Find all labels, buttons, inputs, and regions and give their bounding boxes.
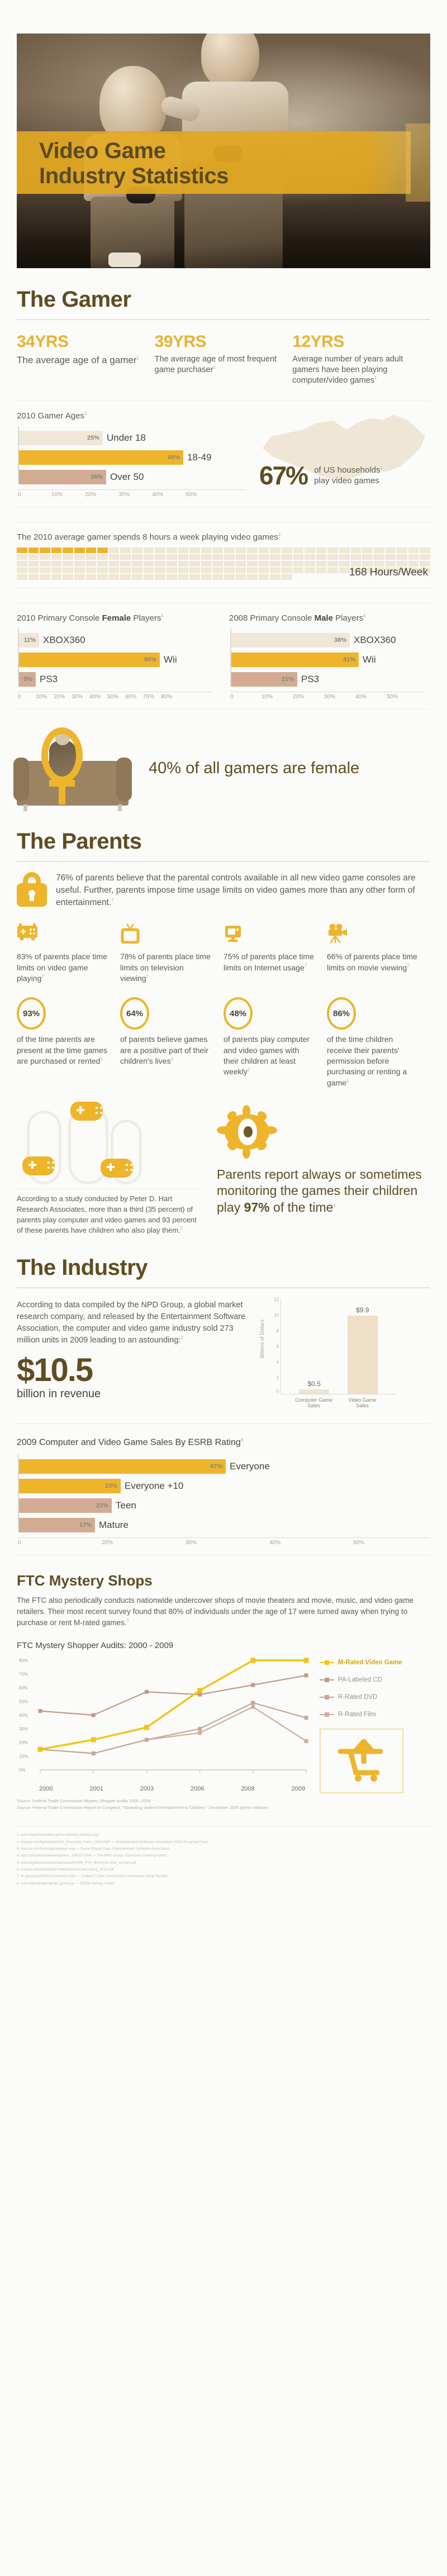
households-caption: of US households1 play video games	[314, 465, 383, 486]
hour-cell	[109, 554, 120, 560]
legend-item: R-Rated Film	[320, 1711, 426, 1718]
hour-cell	[144, 554, 154, 560]
hour-cell	[17, 554, 27, 560]
section-heading-ftc: FTC Mystery Shops	[17, 1572, 430, 1589]
hour-cell	[420, 561, 430, 566]
bar-value: 38%	[334, 637, 346, 644]
hour-cell	[120, 554, 131, 560]
bar-value: 21%	[282, 676, 294, 683]
stat-caption: Average number of years adult gamers hav…	[292, 354, 417, 386]
computer-monitor-icon	[223, 923, 315, 946]
hour-cell	[420, 554, 430, 560]
hour-cell	[74, 554, 85, 560]
legend-label: M-Rated Video Game	[338, 1659, 402, 1666]
time-limit-card: 78% of parents place time limits on tele…	[120, 923, 223, 984]
divider	[17, 319, 430, 320]
monitoring-block: Parents report always or sometimes monit…	[217, 1105, 430, 1236]
stat-card: 34YRS The average age of a gamer1	[17, 332, 155, 386]
hour-cell	[236, 547, 246, 553]
ftc-plot-svg: 80%70%60%50%40%30%20%10%0%	[17, 1656, 313, 1784]
hour-cell	[351, 547, 362, 553]
x-axis: 0 10% 20% 30% 40% 50% 60% 70% 80%	[18, 692, 212, 700]
hour-cell	[316, 554, 327, 560]
hour-cell	[316, 561, 327, 566]
hour-cell	[132, 561, 142, 566]
legend-item: PA-Labeled CD	[320, 1677, 426, 1683]
legend-swatch	[320, 1662, 334, 1663]
hour-cell	[259, 561, 269, 566]
legend-item: M-Rated Video Game	[320, 1659, 426, 1666]
hour-cell	[224, 554, 235, 560]
hour-cell	[167, 561, 177, 566]
ftc-sources: Source: Federal Trade Commission Mystery…	[17, 1798, 313, 1811]
hero-title-line1: Video Game	[39, 139, 397, 164]
hour-cell	[420, 547, 430, 553]
female-symbol-illustration	[17, 726, 134, 810]
family-illustration	[17, 1105, 201, 1189]
bar-value: 41%	[343, 656, 355, 663]
hour-cell	[327, 547, 338, 553]
bar: 23%	[19, 1479, 121, 1493]
bar: 38%	[231, 633, 350, 647]
ftc-chart-wrap: 80%70%60%50%40%30%20%10%0% 2000200120032…	[17, 1656, 430, 1811]
bar: 80%	[19, 653, 160, 667]
gamer-stat-trio: 34YRS The average age of a gamer1 39YRS …	[17, 332, 430, 386]
section-heading-parents: The Parents	[17, 829, 430, 854]
time-limit-text: 83% of parents place time limits on vide…	[17, 951, 108, 984]
hour-cell	[408, 547, 419, 553]
divider	[17, 861, 430, 862]
chart-title: 2010 Gamer Ages3	[17, 411, 246, 421]
bar-row: 49% 18-49	[19, 450, 246, 465]
shopping-cart-icon	[320, 1729, 403, 1793]
bar-value: 25%	[87, 435, 99, 441]
hour-cell	[51, 561, 62, 566]
time-limit-card: 75% of parents place time limits on Inte…	[223, 923, 327, 984]
hour-cell	[224, 561, 235, 566]
bar-row: 47% Everyone	[19, 1459, 430, 1474]
percent-ring: 86%	[327, 997, 356, 1030]
svg-text:50%: 50%	[19, 1699, 28, 1704]
ftc-line-chart: 80%70%60%50%40%30%20%10%0%	[17, 1656, 307, 1784]
hour-cell	[351, 554, 362, 560]
bar: 21%	[231, 672, 297, 687]
bar-row: 17% Mature	[19, 1518, 430, 1532]
hour-cell	[259, 554, 269, 560]
bar: $9.9	[348, 1316, 378, 1394]
hour-cell	[270, 561, 280, 566]
study-and-monitoring-row: According to a study conducted by Peter …	[17, 1105, 430, 1236]
hart-study-text: According to a study conducted by Peter …	[17, 1189, 201, 1236]
movie-camera-icon	[327, 923, 418, 946]
legend-item: R-Rated DVD	[320, 1694, 426, 1701]
hour-cell	[282, 561, 292, 566]
hour-cell	[362, 547, 373, 553]
hour-cell	[132, 547, 142, 553]
hours-per-week-panel: The 2010 average gamer spends 8 hours a …	[17, 522, 430, 588]
bar-label: Everyone	[230, 1461, 270, 1472]
hour-cell	[397, 554, 407, 560]
bar-label: PS3	[40, 674, 58, 685]
time-limit-text: 75% of parents place time limits on Inte…	[223, 951, 315, 973]
esrb-panel: 2009 Computer and Video Game Sales By ES…	[17, 1423, 430, 1555]
hour-cell	[293, 554, 304, 560]
chart-title: 2010 Primary Console Female Players5	[17, 613, 212, 623]
svg-text:20%: 20%	[19, 1740, 28, 1745]
svg-text:0%: 0%	[19, 1768, 26, 1773]
television-icon	[120, 923, 211, 946]
hour-cell	[144, 561, 154, 566]
sales-column-chart: Billions of Dollars 12 10 8 6 4 2 0 $0.5	[267, 1299, 396, 1410]
hour-cell	[17, 547, 27, 553]
section-heading-gamer: The Gamer	[17, 287, 430, 312]
bar-row: 25% Under 18	[19, 431, 246, 445]
time-limit-card: 66% of parents place time limits on movi…	[327, 923, 430, 984]
hour-cell	[270, 554, 280, 560]
plot-area: 12 10 8 6 4 2 0 $0.5 $9.9	[280, 1299, 396, 1394]
infographic-page: Video Game Industry Statistics The Gamer…	[0, 34, 447, 1887]
percent-ring: 93%	[17, 997, 46, 1030]
bar-label: XBOX360	[43, 635, 85, 646]
bar-row: 80% Wii	[19, 653, 212, 667]
bar-row: 9% PS3	[19, 672, 212, 687]
legend-swatch	[320, 1679, 334, 1680]
female-gamers-text: 40% of all gamers are female	[149, 759, 359, 778]
stat-card: 39YRS The average age of most frequent g…	[155, 332, 293, 386]
hour-cell	[97, 554, 108, 560]
legend-swatch	[320, 1697, 334, 1698]
hour-cell	[305, 561, 315, 566]
hour-cell	[74, 561, 85, 566]
hour-cell	[293, 547, 304, 553]
hour-cell	[109, 561, 120, 566]
hour-cell	[386, 547, 396, 553]
bar-value: 11%	[24, 637, 36, 644]
hour-cell	[201, 554, 212, 560]
hero-title-line2: Industry Statistics	[39, 164, 397, 189]
hour-cell	[339, 554, 350, 560]
hour-cell	[28, 547, 39, 553]
legend-label: R-Rated DVD	[338, 1694, 377, 1701]
hour-cell	[236, 561, 246, 566]
bar-label: Over 50	[110, 472, 144, 483]
stat-card: 12YRS Average number of years adult game…	[292, 332, 430, 386]
hour-cell	[305, 554, 315, 560]
hour-cell	[397, 561, 407, 566]
x-tick-label: 2008	[241, 1785, 254, 1792]
bar: 21%	[19, 1498, 112, 1513]
hour-cell	[86, 554, 97, 560]
hour-cell	[270, 547, 280, 553]
stat-value: 12YRS	[292, 332, 417, 351]
lock-icon	[17, 872, 47, 907]
y-axis-title: Billions of Dollars	[259, 1320, 265, 1358]
bar-row: 11% XBOX360	[19, 633, 212, 647]
bar-label: Everyone +10	[125, 1480, 183, 1492]
hour-cell	[40, 554, 50, 560]
percent-ring: 64%	[120, 997, 149, 1030]
hour-cell	[339, 561, 350, 566]
female-gamers-banner: 40% of all gamers are female	[17, 726, 430, 810]
section-heading-industry: The Industry	[17, 1255, 430, 1280]
gamer-ages-chart: 2010 Gamer Ages3 25% Under 18 49% 18-49	[17, 411, 246, 498]
hour-cell	[247, 561, 258, 566]
hour-cell	[327, 561, 338, 566]
bar-label: XBOX360	[354, 635, 396, 646]
hour-cell	[386, 554, 396, 560]
hour-cell	[63, 561, 73, 566]
footnote-item: 5. esrb.org/about/news/downloads/ESRB_PT…	[17, 1860, 430, 1866]
hour-cell	[17, 561, 27, 566]
households-percent: 67%	[259, 460, 307, 491]
bar-value: 80%	[144, 656, 156, 663]
hour-cell	[189, 554, 200, 560]
bar-value: $9.9	[348, 1306, 378, 1314]
hour-cell	[120, 547, 131, 553]
bar: 25%	[19, 431, 103, 445]
hour-cell	[374, 561, 384, 566]
hour-cell	[28, 554, 39, 560]
legend-label: R-Rated Film	[338, 1711, 376, 1718]
hart-study-block: According to a study conducted by Peter …	[17, 1105, 201, 1236]
x-tick-label: 2009	[291, 1785, 305, 1792]
hour-cell	[51, 547, 62, 553]
svg-text:70%: 70%	[19, 1672, 28, 1677]
legend-swatch	[320, 1714, 334, 1715]
footnote-item: 7. ftc.gov/opa/2009/12/violence.shtm — F…	[17, 1873, 430, 1880]
female-gender-icon	[41, 727, 83, 783]
hour-cell	[374, 547, 384, 553]
circle-stat-card: 93% of the time parents are present at t…	[17, 997, 120, 1088]
time-limit-card: 83% of parents place time limits on vide…	[17, 923, 120, 984]
ftc-chart-title: FTC Mystery Shopper Audits: 2000 - 2009	[17, 1641, 430, 1650]
eye-icon	[217, 1105, 277, 1159]
chart-title: 2008 Primary Console Male Players6	[229, 613, 425, 623]
revenue-value: $10.5	[17, 1354, 251, 1387]
y-axis-ticks: 12 10 8 6 4 2 0	[271, 1299, 280, 1394]
bar-value: 17%	[79, 1522, 92, 1529]
bar: $0.5	[299, 1389, 329, 1394]
footnote-item: 2. theesa.com/facts/pdfs/ESA_Essential_F…	[17, 1839, 430, 1846]
svg-text:80%: 80%	[19, 1658, 28, 1663]
hour-cell	[282, 547, 292, 553]
bar-value: 47%	[210, 1463, 222, 1470]
hour-cell	[40, 561, 50, 566]
hour-cell	[327, 554, 338, 560]
x-axis: 0 20% 30% 40% 50%	[18, 1537, 430, 1546]
ftc-copy: The FTC also periodically conducts natio…	[17, 1595, 430, 1629]
page-title: Video Game Industry Statistics	[39, 139, 397, 189]
bar-value: 26%	[91, 474, 103, 480]
us-households-block: 67% of US households1 play video games	[259, 411, 427, 495]
hour-cell	[212, 554, 223, 560]
bar-value: 21%	[96, 1502, 108, 1509]
parental-controls-text: 76% of parents believe that the parental…	[56, 872, 430, 909]
svg-text:40%: 40%	[19, 1713, 28, 1718]
hour-cell	[97, 547, 108, 553]
monitoring-text: Parents report always or sometimes monit…	[217, 1166, 430, 1216]
esrb-chart-title: 2009 Computer and Video Game Sales By ES…	[17, 1437, 430, 1447]
hour-cell	[120, 561, 131, 566]
legend-label: PA-Labeled CD	[338, 1677, 382, 1683]
circle-stat-text: of the time children receive their paren…	[327, 1034, 418, 1088]
console-players-panel: 2010 Primary Console Female Players5 11%…	[17, 603, 430, 710]
industry-revenue-row: According to data compiled by the NPD Gr…	[17, 1299, 430, 1410]
bar: 49%	[19, 450, 183, 465]
bar: 41%	[231, 653, 359, 667]
bar-row: 21% PS3	[231, 672, 425, 687]
hour-cell	[63, 554, 73, 560]
hour-cell	[132, 554, 142, 560]
hour-cell	[167, 554, 177, 560]
bar: 9%	[19, 672, 36, 687]
hour-cell	[40, 547, 50, 553]
svg-text:30%: 30%	[19, 1727, 28, 1732]
hours-total-label: 168 Hours/Week	[17, 566, 430, 579]
hour-cell	[28, 561, 39, 566]
hour-cell	[155, 554, 165, 560]
hour-cell	[247, 547, 258, 553]
hour-cell	[224, 547, 235, 553]
hour-cell	[293, 561, 304, 566]
bar: 11%	[19, 633, 39, 647]
parental-controls-block: 76% of parents believe that the parental…	[17, 872, 430, 909]
circle-stat-card: 48% of parents play computer and video g…	[223, 997, 327, 1088]
percent-ring: 48%	[223, 997, 253, 1030]
hour-cell	[212, 547, 223, 553]
bar-row: 26% Over 50	[19, 470, 246, 484]
hour-cell	[374, 554, 384, 560]
x-tick-label: 2001	[89, 1785, 103, 1792]
hour-cell	[74, 547, 85, 553]
hour-cell	[97, 561, 108, 566]
circle-stat-text: of parents play computer and video games…	[223, 1034, 315, 1077]
hour-cell	[167, 547, 177, 553]
gamer-ages-panel: 2010 Gamer Ages3 25% Under 18 49% 18-49	[17, 401, 430, 507]
stat-value: 39YRS	[155, 332, 279, 351]
hour-cell	[189, 547, 200, 553]
bar-row: 21% Teen	[19, 1498, 430, 1513]
hour-cell	[408, 561, 419, 566]
bar-label: Wii	[164, 654, 177, 665]
svg-text:10%: 10%	[19, 1754, 28, 1759]
x-tick-label: 2000	[39, 1785, 53, 1792]
x-tick-label: 2003	[140, 1785, 154, 1792]
hour-cell	[109, 547, 120, 553]
hour-cell	[282, 554, 292, 560]
hour-cell	[236, 554, 246, 560]
circle-stat-text: of parents believe games are a positive …	[120, 1034, 211, 1066]
bar-label: 18-49	[187, 452, 211, 463]
x-axis-labels: Computer Game Sales Video Game Sales	[280, 1394, 396, 1410]
hour-cell	[86, 547, 97, 553]
hour-cell	[247, 554, 258, 560]
hour-cell	[201, 547, 212, 553]
parent-stat-circles: 93% of the time parents are present at t…	[17, 997, 430, 1088]
hour-cell	[178, 554, 189, 560]
hour-cell	[362, 554, 373, 560]
bar-label: PS3	[301, 674, 319, 685]
hour-cell	[63, 547, 73, 553]
hour-cell	[155, 547, 165, 553]
hour-cell	[339, 547, 350, 553]
hour-cell	[201, 561, 212, 566]
revenue-caption: billion in revenue	[17, 1388, 251, 1401]
x-tick-label: 2006	[191, 1785, 204, 1792]
svg-text:60%: 60%	[19, 1685, 28, 1691]
footnote-item: 6. theesa.com/facts/pdfs/VideoGames21stC…	[17, 1866, 430, 1873]
bar: 47%	[19, 1459, 226, 1474]
circle-stat-card: 64% of parents believe games are a posit…	[120, 997, 223, 1088]
hour-cell	[305, 547, 315, 553]
time-limit-text: 66% of parents place time limits on movi…	[327, 951, 418, 973]
x-axis: 0 10% 20% 30% 40% 50%	[18, 489, 246, 498]
hour-cell	[408, 554, 419, 560]
hour-cell	[351, 561, 362, 566]
bar-row: 41% Wii	[231, 653, 425, 667]
divider	[17, 1287, 430, 1288]
hour-cell	[155, 561, 165, 566]
hour-cell	[144, 547, 154, 553]
female-console-chart: 2010 Primary Console Female Players5 11%…	[17, 613, 212, 700]
bar: 26%	[19, 470, 106, 484]
footnote-item: 3. theesa.com/facts/gameplayer.asp — Gam…	[17, 1846, 430, 1853]
circle-stat-card: 86% of the time children receive their p…	[327, 997, 430, 1088]
circle-stat-text: of the time parents are present at the t…	[17, 1034, 108, 1066]
bar-label: Wii	[363, 654, 376, 665]
footnote-item: 1. esrb.org/about/video-game-industry-st…	[17, 1832, 430, 1839]
hour-cell	[259, 547, 269, 553]
hours-title: The 2010 average gamer spends 8 hours a …	[17, 532, 430, 542]
hour-cell	[51, 554, 62, 560]
male-console-chart: 2008 Primary Console Male Players6 38% X…	[229, 613, 425, 700]
bar-label: Mature	[99, 1520, 129, 1531]
bar-label: Under 18	[107, 432, 146, 444]
hour-cell	[212, 561, 223, 566]
hour-cell	[178, 547, 189, 553]
stat-caption: The average age of most frequent game pu…	[155, 354, 279, 375]
ftc-legend: M-Rated Video Game PA-Labeled CD R-Rated…	[320, 1656, 426, 1811]
time-limit-text: 78% of parents place time limits on tele…	[120, 951, 211, 984]
bar-value: 23%	[105, 1483, 117, 1489]
hour-cell	[397, 547, 407, 553]
footnotes-list: 1. esrb.org/about/video-game-industry-st…	[17, 1826, 430, 1887]
bar-value: 49%	[168, 454, 180, 461]
industry-copy: According to data compiled by the NPD Gr…	[17, 1299, 251, 1346]
stat-caption: The average age of a gamer1	[17, 354, 141, 366]
bar: 17%	[19, 1518, 95, 1532]
x-axis: 0 10% 20% 30% 40% 50%	[230, 692, 425, 700]
bar-row: 23% Everyone +10	[19, 1479, 430, 1493]
footnote-item: 8. esrb.org/ratings/ratings_guide.jsp — …	[17, 1880, 430, 1887]
game-controller-icon	[17, 923, 108, 946]
hero-banner: Video Game Industry Statistics	[17, 34, 430, 268]
ftc-x-axis-labels: 200020012003200620082009	[17, 1785, 313, 1792]
hour-cell	[86, 561, 97, 566]
hour-cell	[386, 561, 396, 566]
hour-cell	[189, 561, 200, 566]
time-limits-row: 83% of parents place time limits on vide…	[17, 923, 430, 984]
bar-value: 9%	[23, 676, 32, 683]
hour-cell	[178, 561, 189, 566]
stat-value: 34YRS	[17, 332, 141, 351]
footnote-item: 4. npd.com/press/releases/press_100527.h…	[17, 1853, 430, 1859]
bar-row: 38% XBOX360	[231, 633, 425, 647]
bar-value: $0.5	[299, 1380, 329, 1388]
hour-cell	[362, 561, 373, 566]
hour-cell	[316, 547, 327, 553]
bar-label: Teen	[116, 1500, 136, 1511]
